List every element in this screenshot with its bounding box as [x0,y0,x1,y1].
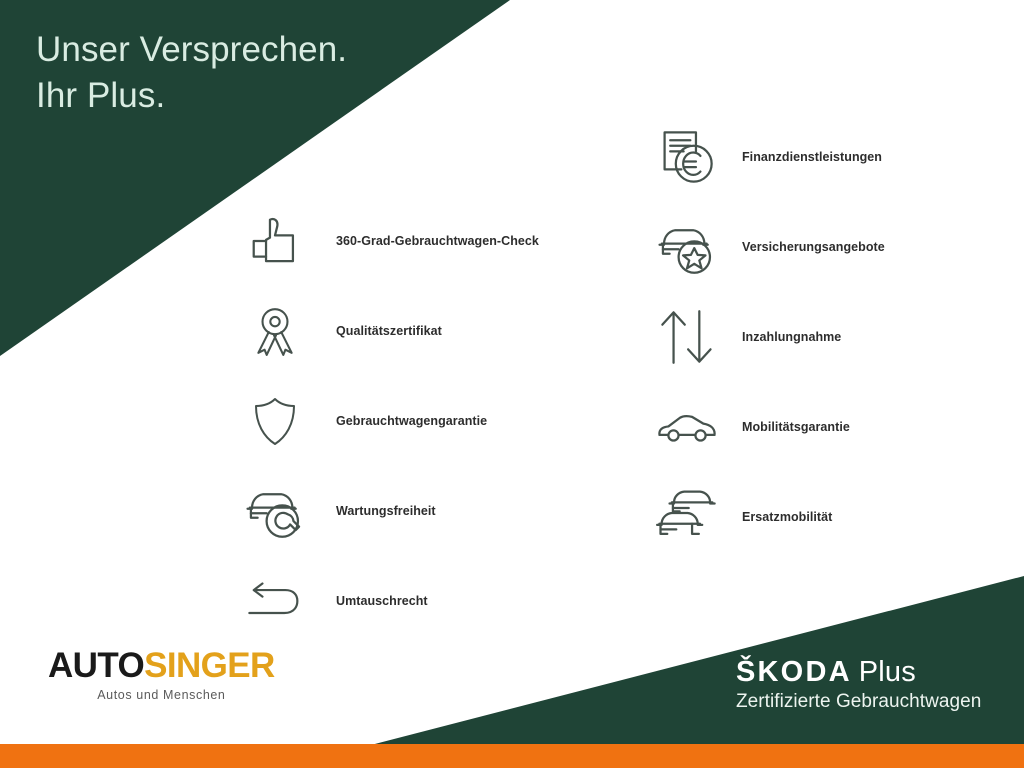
feature-item: Mobilitätsgarantie [650,382,885,472]
up-down-arrows-icon [650,300,724,374]
orange-accent-bar [0,744,1024,768]
feature-label: Mobilitätsgarantie [742,420,850,434]
feature-item: Gebrauchtwagengarantie [238,376,539,466]
dealer-logo: AUTOSINGER Autos und Menschen [48,648,275,702]
thumbs-up-icon [238,204,312,278]
feature-label: Finanzdienstleistungen [742,150,882,164]
feature-label: Umtauschrecht [336,594,428,608]
feature-label: Wartungsfreiheit [336,504,436,518]
brand-lockup: ŠKODAPlus Zertifizierte Gebrauchtwagen [736,658,981,713]
feature-item: Ersatzmobilität [650,472,885,562]
feature-item: Finanzdienstleistungen [650,112,885,202]
feature-item: 360-Grad-Gebrauchtwagen-Check [238,196,539,286]
document-euro-icon [650,120,724,194]
feature-label: Gebrauchtwagengarantie [336,414,487,428]
dealer-wordmark-singer: SINGER [144,646,275,685]
feature-label: Versicherungsangebote [742,240,885,254]
dealer-wordmark-auto: AUTO [48,646,144,685]
headline: Unser Versprechen. Ihr Plus. [36,27,347,118]
brand-name-line: ŠKODAPlus [736,658,981,687]
feature-item: Versicherungsangebote [650,202,885,292]
feature-item: Wartungsfreiheit [238,466,539,556]
feature-item: Qualitätszertifikat [238,286,539,376]
brand-descriptor: Zertifizierte Gebrauchtwagen [736,691,981,713]
award-rosette-icon [238,294,312,368]
car-star-icon [650,210,724,284]
brand-name-plus: Plus [859,656,916,688]
feature-label: Inzahlungnahme [742,330,841,344]
feature-item: Inzahlungnahme [650,292,885,382]
feature-list-right: Finanzdienstleistungen Versicherungsange… [650,112,885,562]
feature-item: Umtauschrecht [238,556,539,646]
brand-name-skoda: ŠKODA [736,656,852,688]
dealer-tagline: Autos und Menschen [48,688,275,702]
dealer-wordmark: AUTOSINGER [48,648,275,683]
shield-icon [238,384,312,458]
promo-banner: Unser Versprechen. Ihr Plus. 360-Grad-Ge… [0,0,1024,768]
feature-label: 360-Grad-Gebrauchtwagen-Check [336,234,539,248]
car-wrench-icon [238,474,312,548]
two-cars-icon [650,480,724,554]
car-side-icon [650,390,724,464]
feature-label: Ersatzmobilität [742,510,832,524]
feature-list-left: 360-Grad-Gebrauchtwagen-Check Qualitätsz… [238,196,539,646]
u-turn-arrow-icon [238,564,312,638]
feature-label: Qualitätszertifikat [336,324,442,338]
